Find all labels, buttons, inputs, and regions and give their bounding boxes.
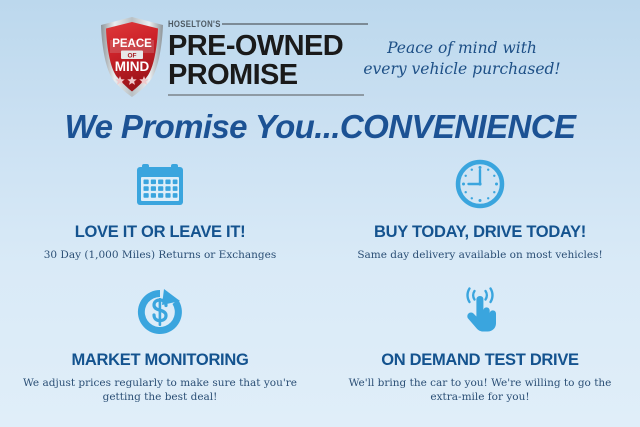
lockup-bottom-rule <box>168 94 364 96</box>
feature-subtitle: We adjust prices regularly to make sure … <box>20 376 300 404</box>
feature-love-it-or-leave-it: LOVE IT OR LEAVE IT! 30 Day (1,000 Miles… <box>0 155 320 283</box>
feature-subtitle: We'll bring the car to you! We're willin… <box>340 376 620 404</box>
brand-eyebrow-row: HOSELTON'S <box>168 18 368 30</box>
promo-poster: PEACE OF MIND HOSELTON'S PRE-OWNED PROMI… <box>0 0 640 427</box>
feature-icon-box <box>135 155 185 213</box>
feature-title: LOVE IT OR LEAVE IT! <box>75 223 246 242</box>
peace-of-mind-shield-logo: PEACE OF MIND <box>99 16 165 98</box>
feature-subtitle: 30 Day (1,000 Miles) Returns or Exchange… <box>20 248 300 262</box>
header-lockup: PEACE OF MIND HOSELTON'S PRE-OWNED PROMI… <box>0 8 640 104</box>
shield-text-mind: MIND <box>115 59 150 74</box>
feature-title: MARKET MONITORING <box>71 351 248 370</box>
tagline: Peace of mind with every vehicle purchas… <box>362 38 562 80</box>
page-title: We Promise You...CONVENIENCE <box>0 108 640 146</box>
feature-on-demand-test-drive: ON DEMAND TEST DRIVE We'll bring the car… <box>320 283 640 411</box>
feature-market-monitoring: MARKET MONITORING We adjust prices regul… <box>0 283 320 411</box>
feature-title: ON DEMAND TEST DRIVE <box>381 351 579 370</box>
feature-buy-today-drive-today: BUY TODAY, DRIVE TODAY! Same day deliver… <box>320 155 640 283</box>
feature-icon-box <box>134 283 186 341</box>
brand-eyebrow: HOSELTON'S <box>168 19 221 29</box>
calendar-icon <box>135 160 185 208</box>
feature-title: BUY TODAY, DRIVE TODAY! <box>374 223 586 242</box>
clock-icon <box>455 159 505 209</box>
tagline-line1: Peace of mind with <box>362 38 562 59</box>
tap-hand-icon <box>455 286 505 338</box>
shield-text-peace: PEACE <box>112 38 152 50</box>
feature-subtitle: Same day delivery available on most vehi… <box>340 248 620 262</box>
brand-shield: PEACE OF MIND <box>99 16 165 98</box>
feature-icon-box <box>455 283 505 341</box>
tagline-line2: every vehicle purchased! <box>362 59 562 80</box>
brand-title-line1: PRE-OWNED <box>168 33 368 59</box>
brand-title-line2: PROMISE <box>168 62 368 88</box>
brand-text-lockup: HOSELTON'S PRE-OWNED PROMISE <box>168 18 368 96</box>
dollar-refresh-icon <box>134 287 186 337</box>
feature-icon-box <box>455 155 505 213</box>
eyebrow-rule <box>222 23 368 25</box>
feature-grid: LOVE IT OR LEAVE IT! 30 Day (1,000 Miles… <box>0 155 640 411</box>
